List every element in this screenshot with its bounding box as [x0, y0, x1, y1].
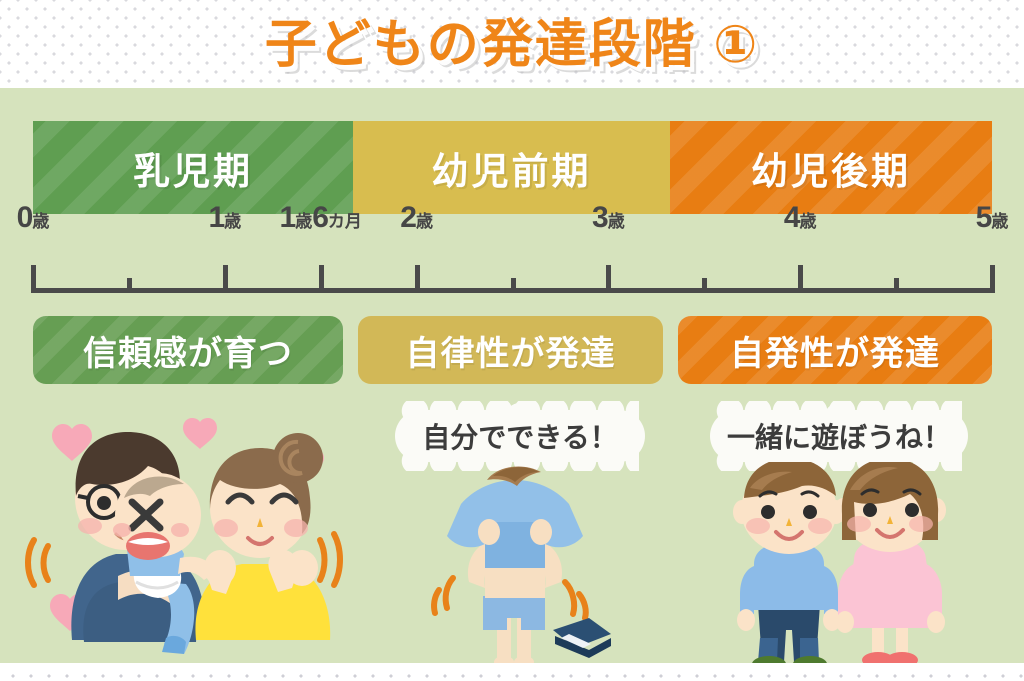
- feature-pill-trust: 信頼感が育つ: [33, 316, 343, 384]
- footer-dot-strip: [0, 663, 1024, 681]
- feature-pill-label: 自発性が発達: [730, 326, 940, 375]
- age-timeline: 0歳1歳1歳6カ月2歳3歳4歳5歳: [0, 228, 1024, 308]
- illustration-child-dressing-self: [425, 458, 655, 663]
- illustration-children-holding-hands: [700, 456, 990, 663]
- speech-bubble-text: 一緒に遊ぼうね！: [727, 416, 951, 456]
- heart-icon: [183, 418, 217, 449]
- infographic-page: 子どもの発達段階 ① 乳児期 幼児前期 幼児後期 0歳1歳1歳6カ月2歳3歳4歳…: [0, 0, 1024, 681]
- feature-pill-label: 信頼感が育つ: [83, 326, 293, 375]
- timeline-tick-label: 5歳: [976, 201, 1009, 235]
- speech-bubble-text: 自分でできる！: [422, 416, 617, 456]
- stage-band-label: 幼児後期: [751, 141, 911, 195]
- feature-pill-initiative: 自発性が発達: [678, 316, 992, 384]
- motion-lines-icon: [320, 534, 340, 585]
- folded-clothes-icon: [553, 618, 611, 658]
- page-header: 子どもの発達段階 ①: [0, 0, 1024, 88]
- timeline-axis-line: [33, 288, 992, 293]
- timeline-ticks: 0歳1歳1歳6カ月2歳3歳4歳5歳: [0, 245, 1024, 293]
- speech-bubble-lets-play: 一緒に遊ぼうね！: [710, 410, 968, 462]
- stage-band-label: 乳児期: [133, 141, 253, 195]
- mother-figure: [195, 433, 330, 640]
- girl-figure: [834, 458, 946, 663]
- speech-bubble-self-can-do: 自分でできる！: [395, 410, 645, 462]
- stage-band-late-childhood: 幼児後期: [670, 121, 992, 214]
- feature-pill-autonomy: 自律性が発達: [358, 316, 663, 384]
- timeline-tick-label: 0歳: [17, 201, 50, 235]
- timeline-tick-label: 1歳: [208, 201, 241, 235]
- stage-band-row: 乳児期 幼児前期 幼児後期: [33, 121, 992, 214]
- page-title: 子どもの発達段階 ①: [0, 2, 1024, 77]
- feature-pill-row: 信頼感が育つ 自律性が発達 自発性が発達: [33, 316, 992, 384]
- timeline-tick-label: 2歳: [400, 201, 433, 235]
- boy-figure: [733, 458, 845, 663]
- main-panel: 乳児期 幼児前期 幼児後期 0歳1歳1歳6カ月2歳3歳4歳5歳 信頼感が育つ 自…: [0, 88, 1024, 663]
- stage-band-label: 幼児前期: [432, 141, 592, 195]
- motion-lines-icon: [28, 540, 48, 585]
- timeline-tick-label: 1歳6カ月: [280, 201, 362, 235]
- illustration-parents-and-baby: [20, 410, 350, 663]
- feature-pill-label: 自律性が発達: [406, 326, 616, 375]
- timeline-tick-label: 4歳: [784, 201, 817, 235]
- timeline-tick-label: 3歳: [592, 201, 625, 235]
